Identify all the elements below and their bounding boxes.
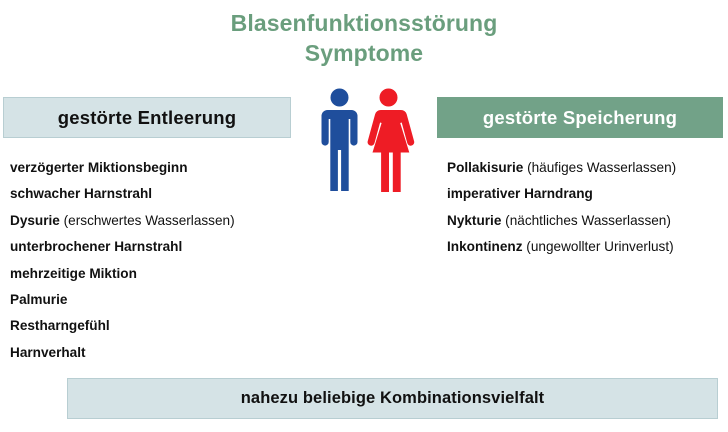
column-header-storage: gestörte Speicherung <box>437 97 723 138</box>
symptom-list-storage: Pollakisurie (häufiges Wasserlassen) imp… <box>447 155 725 261</box>
symptom-gloss: (ungewollter Urinverlust) <box>523 239 674 254</box>
list-item: unterbrochener Harnstrahl <box>10 234 310 260</box>
symptom-term: Nykturie <box>447 213 501 228</box>
footer-banner: nahezu beliebige Kombinationsvielfalt <box>67 378 718 419</box>
symptom-term: schwacher Harnstrahl <box>10 186 152 201</box>
column-header-storage-label: gestörte Speicherung <box>483 107 677 129</box>
symptom-term: Palmurie <box>10 292 67 307</box>
symptom-term: Harnverhalt <box>10 345 86 360</box>
symptom-term: Pollakisurie <box>447 160 523 175</box>
symptom-term: unterbrochener Harnstrahl <box>10 239 182 254</box>
list-item: Nykturie (nächtliches Wasserlassen) <box>447 208 725 234</box>
gender-figures-graphic <box>313 88 417 192</box>
page-title-line-1: Blasenfunktionsstörung <box>0 8 728 38</box>
symptom-gloss: (nächtliches Wasserlassen) <box>501 213 670 228</box>
column-header-emptying-label: gestörte Entleerung <box>58 107 237 129</box>
symptom-term: Dysurie <box>10 213 60 228</box>
list-item: Dysurie (erschwertes Wasserlassen) <box>10 208 310 234</box>
list-item: Palmurie <box>10 287 310 313</box>
page-title-line-2: Symptome <box>0 38 728 68</box>
list-item: Pollakisurie (häufiges Wasserlassen) <box>447 155 725 181</box>
footer-banner-label: nahezu beliebige Kombinationsvielfalt <box>241 389 545 408</box>
symptom-term: verzögerter Miktionsbeginn <box>10 160 188 175</box>
list-item: verzögerter Miktionsbeginn <box>10 155 310 181</box>
list-item: imperativer Harndrang <box>447 181 725 207</box>
symptom-term: imperativer Harndrang <box>447 186 593 201</box>
column-header-emptying: gestörte Entleerung <box>3 97 291 138</box>
page-title: Blasenfunktionsstörung Symptome <box>0 8 728 68</box>
symptom-gloss: (erschwertes Wasserlassen) <box>60 213 235 228</box>
list-item: mehrzeitige Miktion <box>10 261 310 287</box>
symptom-list-emptying: verzögerter Miktionsbeginn schwacher Har… <box>10 155 310 366</box>
female-figure-icon <box>368 89 415 193</box>
symptom-gloss: (häufiges Wasserlassen) <box>523 160 676 175</box>
list-item: schwacher Harnstrahl <box>10 181 310 207</box>
male-figure-icon <box>322 89 358 192</box>
symptom-term: mehrzeitige Miktion <box>10 266 137 281</box>
symptom-term: Restharngefühl <box>10 318 110 333</box>
list-item: Inkontinenz (ungewollter Urinverlust) <box>447 234 725 260</box>
list-item: Harnverhalt <box>10 340 310 366</box>
list-item: Restharngefühl <box>10 313 310 339</box>
symptom-term: Inkontinenz <box>447 239 523 254</box>
